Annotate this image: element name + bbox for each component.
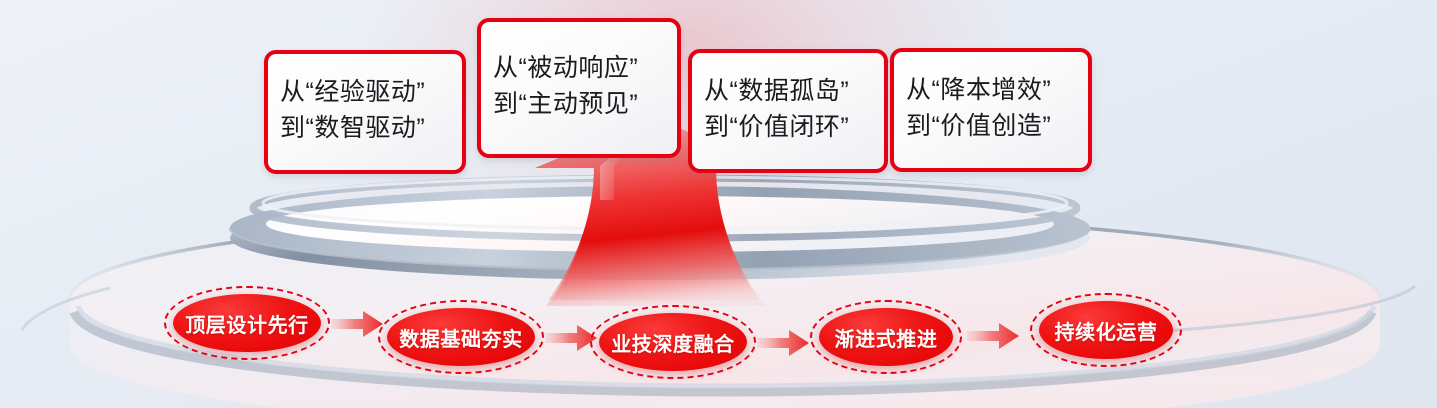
- connector-2: [757, 330, 809, 356]
- stage-pill-2[interactable]: 业技深度融合: [599, 313, 747, 371]
- callout-line-2: 到“数智驱动”: [280, 110, 450, 147]
- callout-line-2: 到“价值闭环”: [704, 109, 872, 146]
- callout-line-1: 从“降本增效”: [906, 72, 1076, 109]
- callout-line-2: 到“价值创造”: [906, 108, 1076, 145]
- callout-card-1[interactable]: 从“被动响应” 到“主动预见”: [477, 18, 681, 158]
- callout-card-2[interactable]: 从“数据孤岛” 到“价值闭环”: [688, 49, 888, 173]
- connector-1: [545, 325, 597, 351]
- stage-label: 数据基础夯实: [399, 323, 523, 352]
- stage-label: 业技深度融合: [611, 328, 735, 357]
- callout-line-1: 从“数据孤岛”: [704, 73, 872, 110]
- stage-label: 顶层设计先行: [185, 309, 309, 338]
- stage-pill-4[interactable]: 持续化运营: [1039, 301, 1173, 359]
- stage-label: 渐进式推进: [835, 323, 938, 352]
- callout-card-0[interactable]: 从“经验驱动” 到“数智驱动”: [264, 50, 466, 174]
- callout-line-2: 到“主动预见”: [493, 86, 665, 123]
- stage-pill-3[interactable]: 渐进式推进: [819, 308, 953, 366]
- connector-0: [331, 311, 383, 337]
- stage-label: 持续化运营: [1055, 316, 1158, 345]
- stage-pill-0[interactable]: 顶层设计先行: [173, 294, 321, 352]
- callout-line-1: 从“经验驱动”: [280, 74, 450, 111]
- callout-card-3[interactable]: 从“降本增效” 到“价值创造”: [890, 48, 1092, 172]
- connector-3: [967, 323, 1019, 349]
- callout-line-1: 从“被动响应”: [493, 50, 665, 87]
- infographic-canvas: 从“经验驱动” 到“数智驱动” 从“被动响应” 到“主动预见” 从“数据孤岛” …: [0, 0, 1437, 408]
- stage-pill-1[interactable]: 数据基础夯实: [387, 308, 535, 366]
